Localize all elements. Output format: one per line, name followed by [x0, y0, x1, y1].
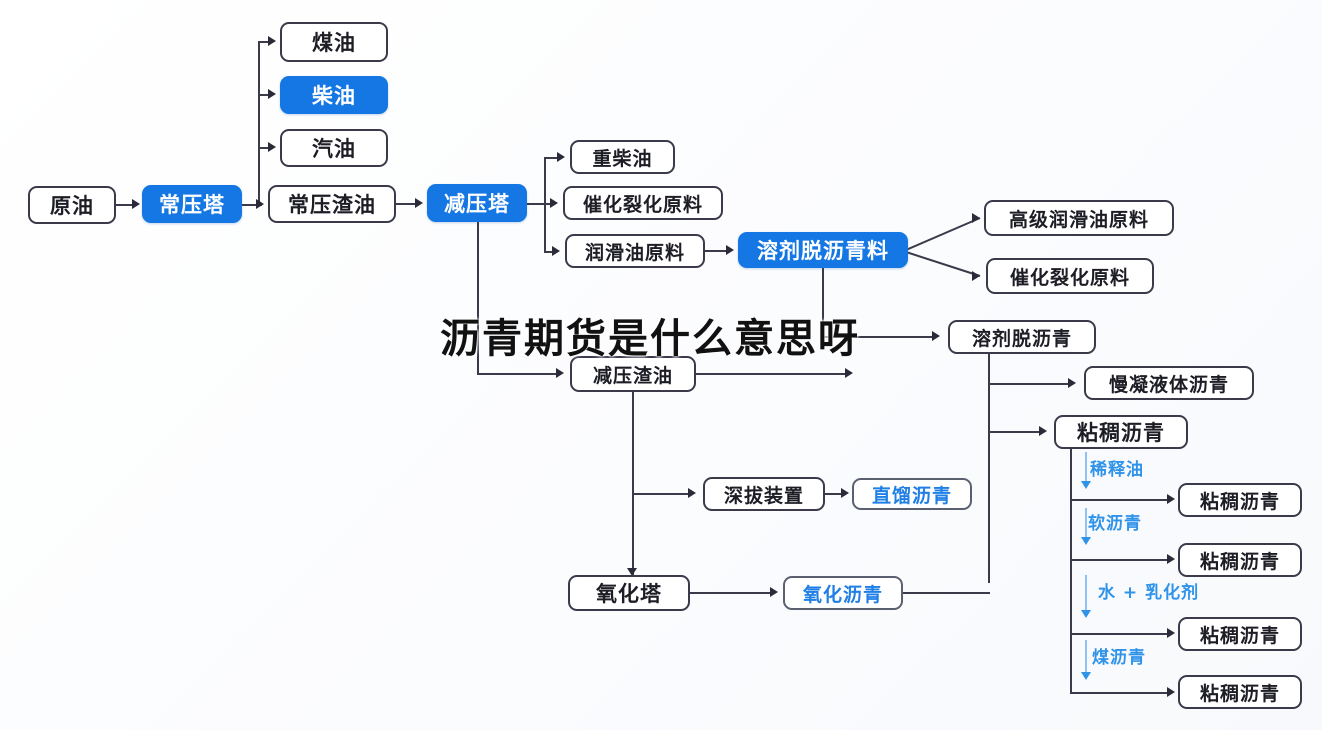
node-slow-setting-liquid-asphalt[interactable]: 慢凝液体沥青 — [1084, 366, 1254, 400]
arrowhead-gasoline — [268, 142, 276, 152]
arrowhead-atm-residue — [256, 199, 264, 209]
node-atmospheric-tower[interactable]: 常压塔 — [142, 185, 242, 223]
arrowhead-additive-diluent — [1081, 481, 1091, 489]
edge-thick-main-spine — [1070, 449, 1072, 694]
edge-thick-4 — [1070, 692, 1170, 694]
edge-additive-emulsifier — [1085, 575, 1087, 613]
edge-to-deep-unit — [632, 493, 690, 495]
edge-oxid-tower-to-oxid-asphalt — [690, 592, 772, 594]
node-fcc-feedstock-primary[interactable]: 催化裂化原料 — [563, 186, 723, 220]
arrowhead-deep-unit — [688, 488, 696, 498]
arrowhead-diesel — [268, 89, 276, 99]
node-heavy-diesel[interactable]: 重柴油 — [570, 140, 675, 174]
sublabel-coal-tar-pitch: 煤沥青 — [1092, 643, 1146, 668]
edge-additive-diluent — [1085, 452, 1087, 484]
node-viscous-asphalt-2[interactable]: 粘稠沥青 — [1178, 543, 1302, 577]
edge-vac-residue-down — [632, 392, 634, 577]
node-viscous-asphalt-4[interactable]: 粘稠沥青 — [1178, 675, 1302, 709]
arrowhead-heavy-diesel — [557, 152, 565, 162]
node-gasoline[interactable]: 汽油 — [280, 129, 388, 167]
arrowhead-kerosene — [268, 36, 276, 46]
arrowhead-thick-4 — [1167, 687, 1175, 697]
arrowhead-vac-residue-right — [845, 368, 853, 378]
arrowhead-thick-1 — [1167, 494, 1175, 504]
edge-vac-tower-to-vac-residue — [477, 373, 557, 375]
arrowhead-additive-emulsifier — [1081, 610, 1091, 618]
edge-lube-feed-to-sda-feed — [705, 250, 727, 252]
node-premium-lube-feedstock[interactable]: 高级润滑油原料 — [984, 200, 1174, 236]
node-oxidized-asphalt[interactable]: 氧化沥青 — [783, 576, 903, 610]
arrowhead-thick-main — [1039, 426, 1047, 436]
edge-vac-residue-right — [696, 373, 848, 375]
node-lube-oil-feedstock[interactable]: 润滑油原料 — [565, 234, 705, 268]
node-straight-run-asphalt[interactable]: 直馏沥青 — [852, 478, 972, 510]
arrowhead-sda-feed — [726, 245, 734, 255]
arrowhead-vac-tower — [415, 198, 423, 208]
arrowhead-additive-coal-pitch — [1081, 672, 1091, 680]
node-vacuum-tower[interactable]: 减压塔 — [427, 184, 527, 222]
node-deep-cut-unit[interactable]: 深拔装置 — [703, 477, 825, 511]
node-viscous-asphalt-1[interactable]: 粘稠沥青 — [1178, 483, 1302, 517]
node-fcc-feedstock-secondary[interactable]: 催化裂化原料 — [986, 258, 1154, 294]
edge-atm-distributor — [258, 41, 260, 206]
sublabel-soft-asphalt: 软沥青 — [1088, 509, 1142, 534]
sublabel-diluent-oil: 稀释油 — [1090, 455, 1144, 480]
arrowhead-fcc-feed-1 — [550, 198, 558, 208]
flowchart-canvas: 原油 常压塔 煤油 柴油 汽油 常压渣油 减压塔 重柴油 催化裂化原料 润滑油原… — [0, 0, 1322, 730]
edge-to-thick-main — [988, 431, 1042, 433]
arrowhead-vac-residue — [556, 368, 564, 378]
arrowhead-additive-soft — [1081, 537, 1091, 545]
arrowhead-lube-feed — [552, 246, 560, 256]
arrowhead-hi-lube — [972, 213, 980, 223]
node-atmospheric-residue[interactable]: 常压渣油 — [268, 185, 396, 223]
arrowhead-fcc-feed-2 — [972, 271, 980, 281]
edge-oxid-asphalt-right — [903, 592, 990, 594]
edge-thick-3 — [1070, 633, 1170, 635]
arrowhead-thick-2 — [1167, 554, 1175, 564]
node-diesel[interactable]: 柴油 — [280, 76, 388, 114]
sublabel-water-emulsifier: 水 + 乳化剂 — [1098, 578, 1199, 603]
edge-thick-1 — [1070, 499, 1170, 501]
node-solvent-deasphalted-asphalt[interactable]: 溶剂脱沥青 — [948, 320, 1096, 354]
edge-to-slow-liquid — [988, 383, 1070, 385]
arrowhead-oxid-asphalt — [770, 587, 778, 597]
arrowhead-sda-asphalt — [932, 331, 940, 341]
node-viscous-asphalt-3[interactable]: 粘稠沥青 — [1178, 617, 1302, 651]
edge-additive-coal-pitch — [1085, 640, 1087, 675]
arrowhead-straight-run — [841, 488, 849, 498]
node-oxidation-tower[interactable]: 氧化塔 — [568, 575, 690, 611]
node-solvent-deasphalting-feed[interactable]: 溶剂脱沥青料 — [738, 232, 908, 268]
edge-thick-2 — [1070, 559, 1170, 561]
node-viscous-asphalt-main[interactable]: 粘稠沥青 — [1054, 415, 1188, 449]
arrowhead-slow-liquid — [1068, 378, 1076, 388]
arrowhead-atm-tower — [132, 199, 140, 209]
node-crude-oil[interactable]: 原油 — [28, 186, 116, 224]
edge-additive-soft — [1085, 508, 1087, 540]
edge-sda-asphalt-down — [988, 354, 990, 583]
node-kerosene[interactable]: 煤油 — [280, 22, 388, 62]
page-title-overlay: 沥青期货是什么意思呀 — [440, 306, 860, 364]
arrowhead-thick-3 — [1167, 628, 1175, 638]
